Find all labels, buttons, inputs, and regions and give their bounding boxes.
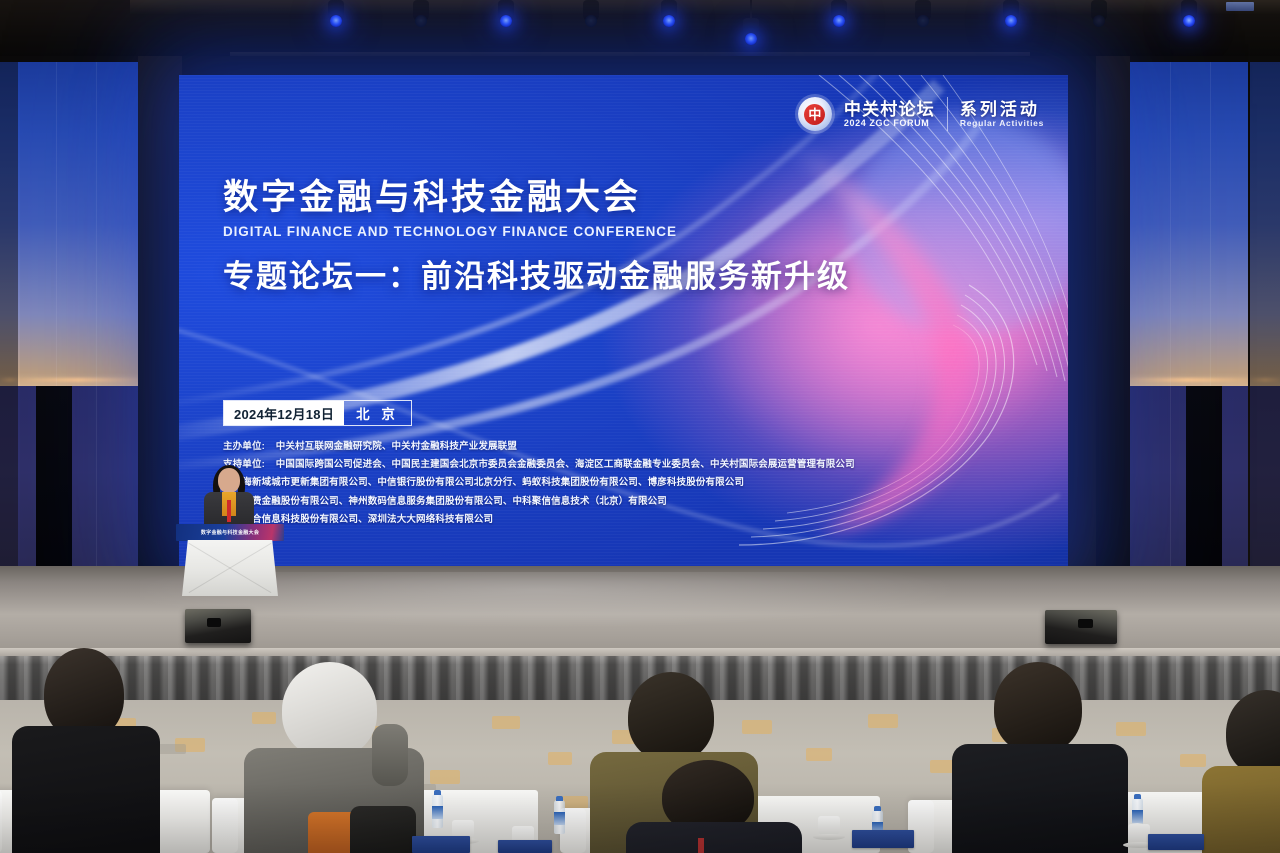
slide-title-en: DIGITAL FINANCE AND TECHNOLOGY FINANCE C… — [223, 224, 850, 239]
teacup — [1128, 824, 1150, 844]
podium-banner-text: 数字金融与科技金融大会 — [201, 529, 259, 536]
stage-light-icon — [410, 0, 432, 34]
right-wall-panel-outer — [1250, 62, 1280, 602]
stage-light-icon — [325, 0, 347, 34]
stage-light-icon — [1088, 0, 1110, 34]
audience-person — [1216, 690, 1280, 853]
conference-stage-photo: 中 中关村论坛 2024 ZGC FORUM 系列活动 Regular Acti… — [0, 0, 1280, 853]
podium-banner: 数字金融与科技金融大会 — [176, 524, 284, 541]
stage-light-icon — [828, 0, 850, 34]
credit-line: 马上消费金融股份有限公司、神州数码信息服务集团股份有限公司、中科聚信信息技术（北… — [223, 493, 855, 511]
date-location-badge: 2024年12月18日 北 京 — [223, 400, 412, 426]
table-nameplate — [1148, 834, 1204, 850]
water-bottle — [554, 800, 565, 834]
event-city: 北 京 — [344, 401, 411, 425]
wall-sign — [1226, 2, 1254, 11]
credit-line: 上海合合信息科技股份有限公司、深圳法大大网络科技有限公司 — [223, 511, 855, 529]
right-wall-panel — [1128, 62, 1248, 602]
emblem-letter: 中 — [804, 104, 825, 125]
table-nameplate — [412, 836, 470, 853]
speaker-head — [218, 468, 240, 493]
zgc-forum-logo: 中 中关村论坛 2024 ZGC FORUM 系列活动 Regular Acti… — [798, 97, 1044, 131]
logo-divider — [947, 97, 948, 131]
stage-light-icon — [495, 0, 517, 34]
credit-line: 北京海新域城市更新集团有限公司、中信银行股份有限公司北京分行、蚂蚁科技集团股份有… — [223, 474, 855, 492]
teacup — [818, 816, 840, 836]
slide-heading-block: 数字金融与科技金融大会 DIGITAL FINANCE AND TECHNOLO… — [223, 179, 850, 294]
table-nameplate — [852, 830, 914, 848]
event-date: 2024年12月18日 — [224, 401, 344, 425]
water-bottle — [432, 794, 443, 828]
left-wall-panel-outer — [0, 62, 20, 602]
podium-desk — [182, 540, 278, 596]
stage-light-icon — [580, 0, 602, 34]
audience-person — [18, 648, 148, 853]
audience-person — [250, 662, 415, 853]
audience-person — [962, 662, 1114, 853]
audience-person — [638, 760, 783, 853]
wall-column-right — [1096, 56, 1130, 616]
credit-label: 主办单位: — [223, 441, 265, 452]
slide-title-cn: 数字金融与科技金融大会 — [223, 179, 850, 218]
logo-activity-cn: 系列活动 — [960, 101, 1044, 118]
zgc-forum-emblem-icon: 中 — [798, 97, 832, 131]
credit-line: 支持单位: 中国国际跨国公司促进会、中国民主建国会北京市委员会金融委员会、海淀区… — [223, 456, 855, 474]
stage-light-icon — [658, 0, 680, 34]
podium: 数字金融与科技金融大会 — [176, 524, 284, 596]
stage-light-icon — [1178, 0, 1200, 34]
credit-text: 北京海新域城市更新集团有限公司、中信银行股份有限公司北京分行、蚂蚁科技集团股份有… — [223, 477, 744, 488]
stage-monitor-speaker — [1045, 610, 1117, 644]
credit-line: 主办单位: 中关村互联网金融研究院、中关村金融科技产业发展联盟 — [223, 438, 855, 456]
logo-brand-cn: 中关村论坛 — [844, 101, 935, 118]
organizer-credits: 主办单位: 中关村互联网金融研究院、中关村金融科技产业发展联盟 支持单位: 中国… — [223, 438, 855, 529]
left-wall-panel — [18, 62, 138, 602]
speaker-lanyard — [227, 500, 231, 522]
table-nameplate — [498, 840, 552, 853]
credit-text: 中国国际跨国公司促进会、中国民主建国会北京市委员会金融委员会、海淀区工商联金融专… — [276, 459, 855, 470]
stage-light-icon — [1000, 0, 1022, 34]
logo-activity-en: Regular Activities — [960, 119, 1044, 128]
logo-brand-en: 2024 ZGC FORUM — [844, 119, 935, 128]
credit-text: 中关村互联网金融研究院、中关村金融科技产业发展联盟 — [276, 441, 517, 452]
stage-monitor-speaker — [185, 609, 251, 643]
slide-subtitle-cn: 专题论坛一：前沿科技驱动金融服务新升级 — [223, 259, 850, 295]
stage-light-icon — [740, 18, 762, 52]
stage-light-icon — [912, 0, 934, 34]
credit-text: 马上消费金融股份有限公司、神州数码信息服务集团股份有限公司、中科聚信信息技术（北… — [223, 496, 667, 507]
led-screen: 中 中关村论坛 2024 ZGC FORUM 系列活动 Regular Acti… — [179, 75, 1068, 568]
